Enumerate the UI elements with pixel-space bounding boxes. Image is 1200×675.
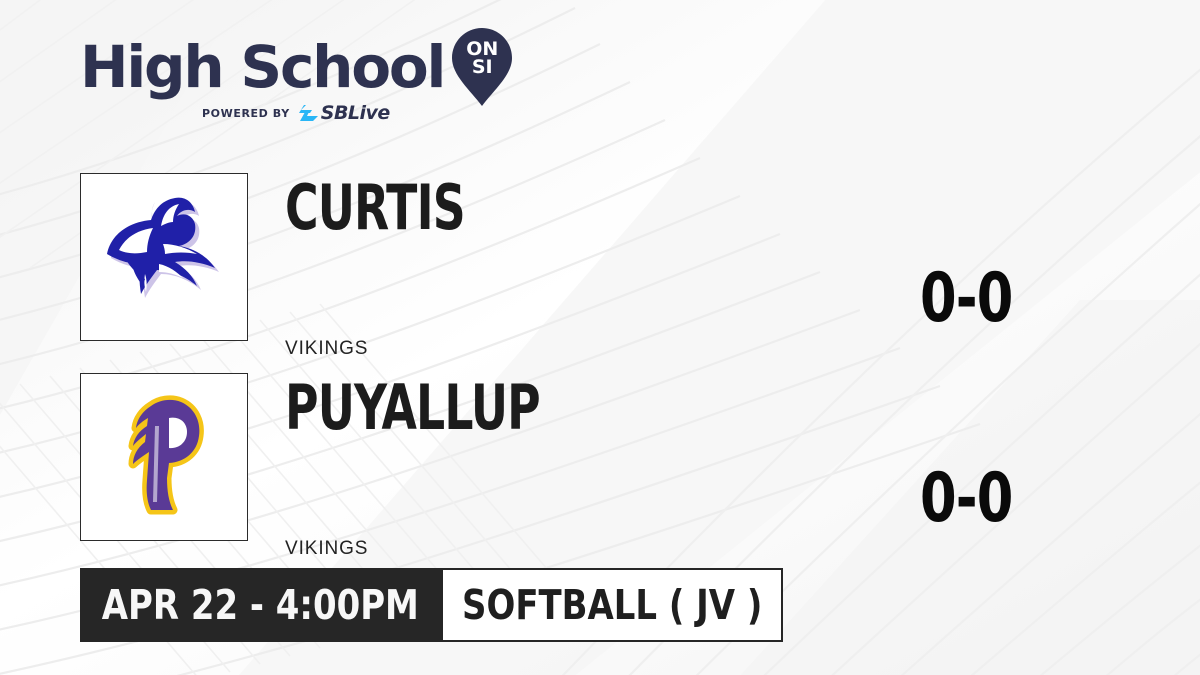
team-record: 0-0 [920,465,1092,533]
team-record: 0-0 [920,265,1092,333]
team-row: PUYALLUP VIKINGS 0-0 [80,373,1120,573]
team-mascot: VIKINGS [285,539,368,558]
team-mascot: VIKINGS [285,339,368,358]
team-name: CURTIS [285,177,465,239]
sblive-s-icon [298,103,320,123]
matchup-graphic: High School ON SI POWERED BY SBLive [0,0,1200,675]
game-sport-text: SOFTBALL ( JV ) [462,585,762,626]
game-sport-block: SOFTBALL ( JV ) [441,568,783,642]
puyallup-vikings-logo [80,373,248,541]
brand-row: High School ON SI [80,32,512,102]
game-datetime-text: APR 22 - 4:00PM [102,585,419,626]
powered-by-label: POWERED BY [202,107,290,120]
team-row: CURTIS VIKINGS 0-0 [80,173,1120,373]
sblive-logo: SBLive [298,102,390,124]
powered-by-row: POWERED BY SBLive [202,104,512,122]
team-name: PUYALLUP [285,377,540,439]
brand-lockup: High School ON SI POWERED BY SBLive [80,32,512,122]
game-datetime-block: APR 22 - 4:00PM [80,568,441,642]
brand-wordmark: High School [80,38,444,96]
on-si-map-pin-icon: ON SI [452,28,512,106]
curtis-vikings-logo [80,173,248,341]
sblive-wordmark: SBLive [321,102,390,124]
game-info-bar: APR 22 - 4:00PM SOFTBALL ( JV ) [80,568,783,642]
